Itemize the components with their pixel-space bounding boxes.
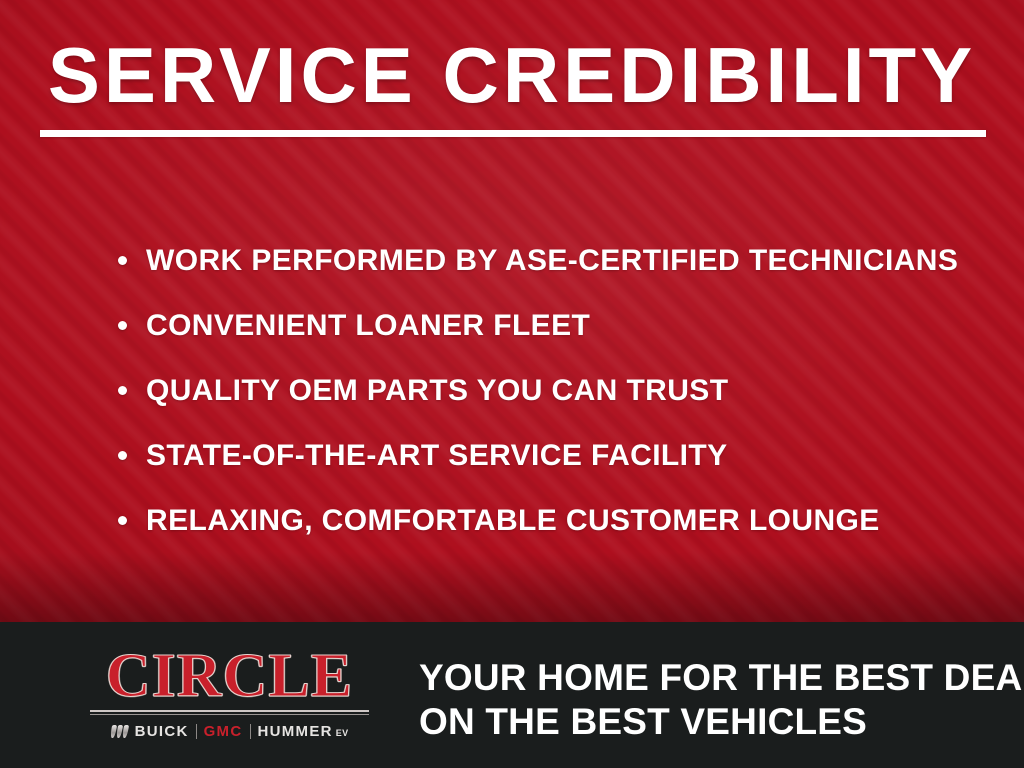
tagline-line-2: ON THE BEST VEHICLES [419, 700, 1024, 744]
dealer-logo-wordmark: CIRCLE [88, 648, 371, 705]
page-title: SERVICE CREDIBILITY [0, 36, 1024, 114]
brand-label-hummer-ev-suffix: EV [336, 728, 349, 739]
bullet-dot-icon [118, 321, 127, 330]
brand-label-gmc: GMC [204, 724, 243, 739]
brand-separator [196, 724, 197, 739]
bullet-dot-icon [118, 516, 127, 525]
logo-rule-thin [90, 714, 369, 715]
bullet-text: WORK PERFORMED BY ASE-CERTIFIED TECHNICI… [146, 244, 958, 278]
dealer-tagline: YOUR HOME FOR THE BEST DEALS ON THE BEST… [419, 646, 1024, 743]
feature-bullet-list: WORK PERFORMED BY ASE-CERTIFIED TECHNICI… [118, 228, 998, 553]
bullet-dot-icon [118, 256, 127, 265]
dealer-logo: CIRCLE BUICK GMC HUMMER EV [88, 646, 371, 741]
brand-strip: BUICK GMC HUMMER EV [88, 722, 371, 741]
list-item: CONVENIENT LOANER FLEET [118, 293, 998, 358]
buick-tri-shield-icon [111, 725, 128, 738]
bottom-shade-overlay [0, 552, 1024, 622]
brand-separator [250, 724, 251, 739]
list-item: RELAXING, COMFORTABLE CUSTOMER LOUNGE [118, 488, 998, 553]
service-credibility-slide: SERVICE CREDIBILITY WORK PERFORMED BY AS… [0, 0, 1024, 768]
bullet-text: QUALITY OEM PARTS YOU CAN TRUST [146, 374, 728, 408]
footer-content: CIRCLE BUICK GMC HUMMER EV [88, 646, 1024, 743]
footer-bar: CIRCLE BUICK GMC HUMMER EV [0, 622, 1024, 768]
bullet-text: CONVENIENT LOANER FLEET [146, 309, 590, 343]
tagline-line-1: YOUR HOME FOR THE BEST DEALS [419, 656, 1024, 700]
brand-label-hummer: HUMMER [258, 724, 333, 739]
brand-label-buick: BUICK [135, 724, 189, 739]
logo-rule-thick [90, 710, 369, 712]
list-item: WORK PERFORMED BY ASE-CERTIFIED TECHNICI… [118, 228, 998, 293]
list-item: QUALITY OEM PARTS YOU CAN TRUST [118, 358, 998, 423]
title-underline-rule [40, 130, 986, 137]
logo-divider-rules [88, 710, 371, 715]
list-item: STATE-OF-THE-ART SERVICE FACILITY [118, 423, 998, 488]
bullet-text: RELAXING, COMFORTABLE CUSTOMER LOUNGE [146, 504, 880, 538]
bullet-dot-icon [118, 451, 127, 460]
bullet-text: STATE-OF-THE-ART SERVICE FACILITY [146, 439, 728, 473]
bullet-dot-icon [118, 386, 127, 395]
